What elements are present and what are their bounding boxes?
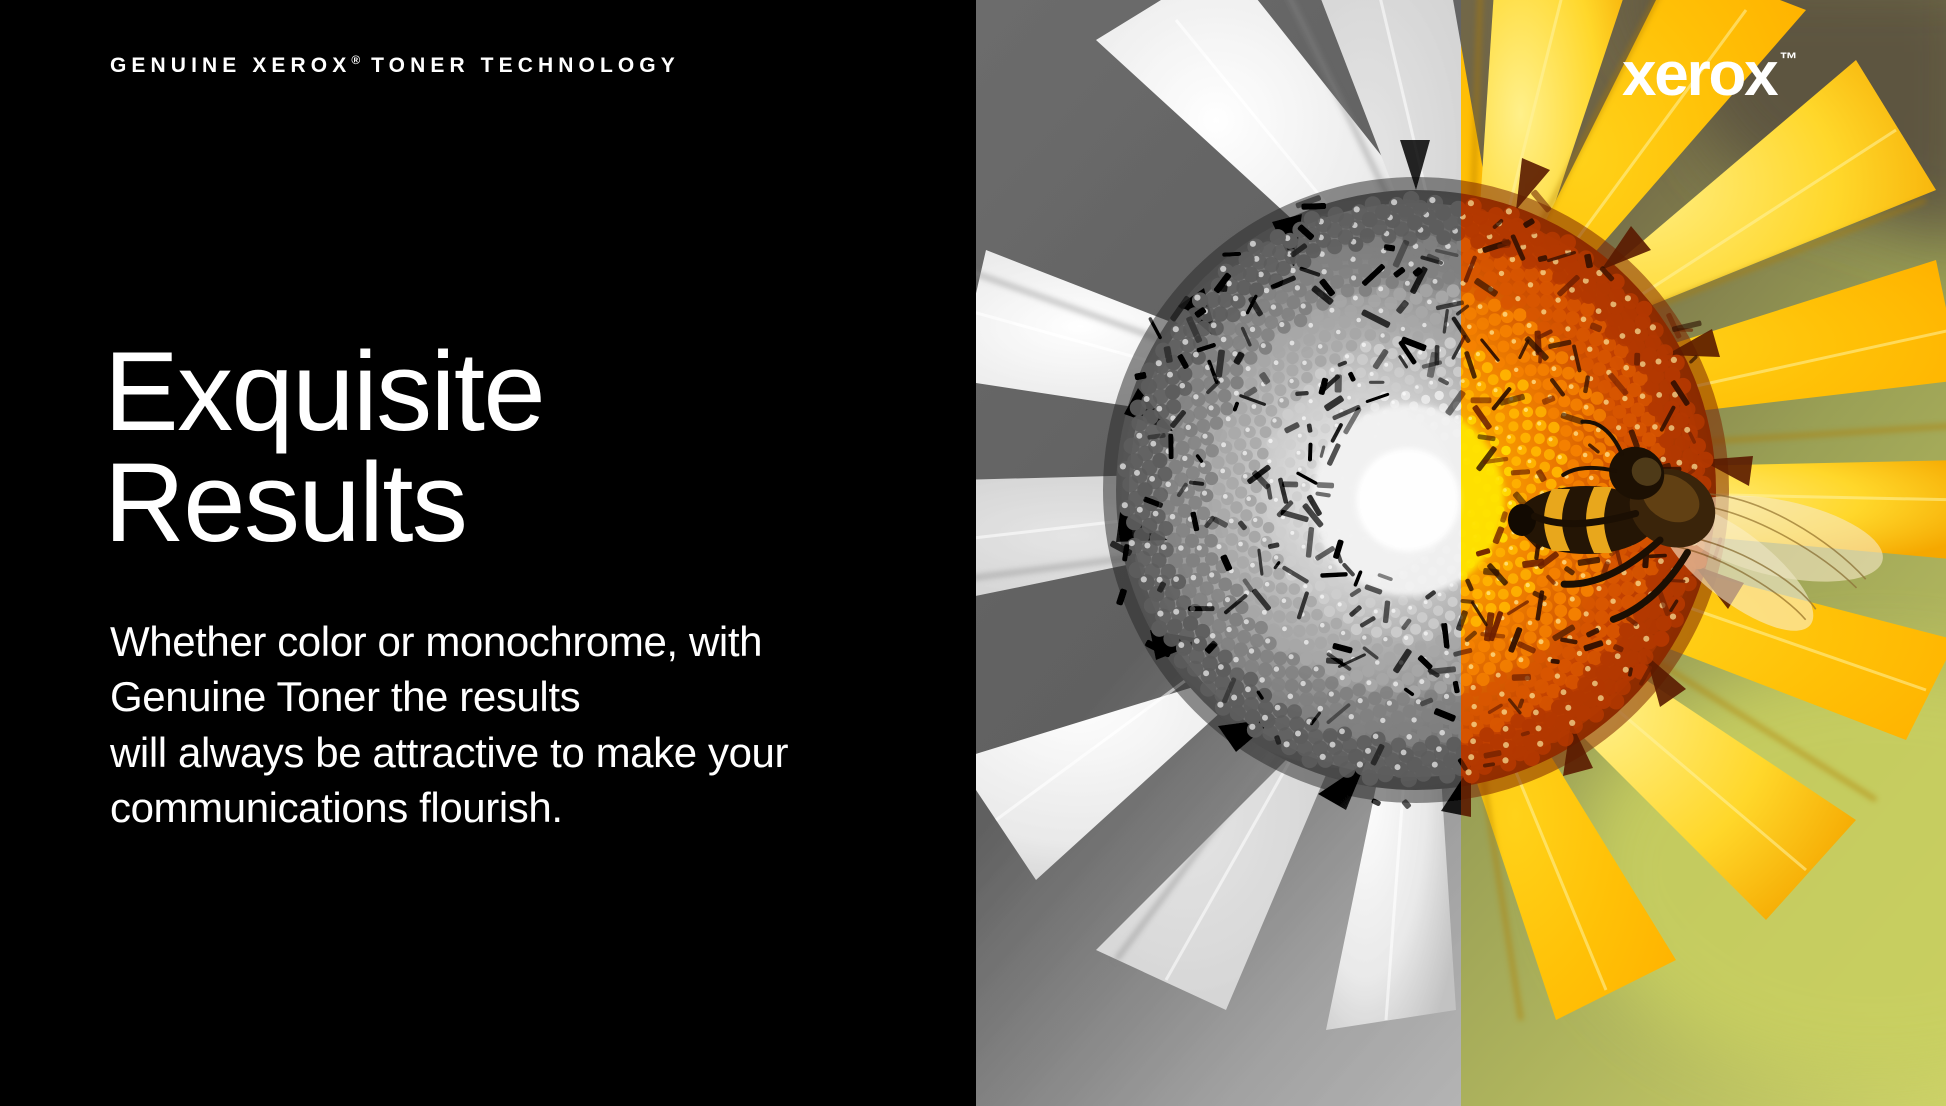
eyebrow-heading: GENUINE XEROX® TONER TECHNOLOGY [110, 54, 680, 76]
sunflower-photo [976, 0, 1946, 1106]
page-title: Exquisite Results [104, 337, 544, 559]
trademark-icon: ™ [1779, 49, 1797, 69]
sunflower-illustration [976, 0, 1946, 1106]
xerox-wordmark: xerox [1622, 40, 1776, 109]
registered-mark-icon: ® [351, 53, 360, 67]
copy-panel: GENUINE XEROX® TONER TECHNOLOGY Exquisit… [0, 0, 976, 1106]
xerox-logo: xerox™ [1622, 44, 1794, 106]
eyebrow-prefix: GENUINE XEROX [110, 54, 351, 77]
eyebrow-suffix: TONER TECHNOLOGY [360, 54, 680, 77]
body-paragraph: Whether color or monochrome, with Genuin… [110, 614, 788, 836]
slide-canvas: GENUINE XEROX® TONER TECHNOLOGY Exquisit… [0, 0, 1946, 1106]
